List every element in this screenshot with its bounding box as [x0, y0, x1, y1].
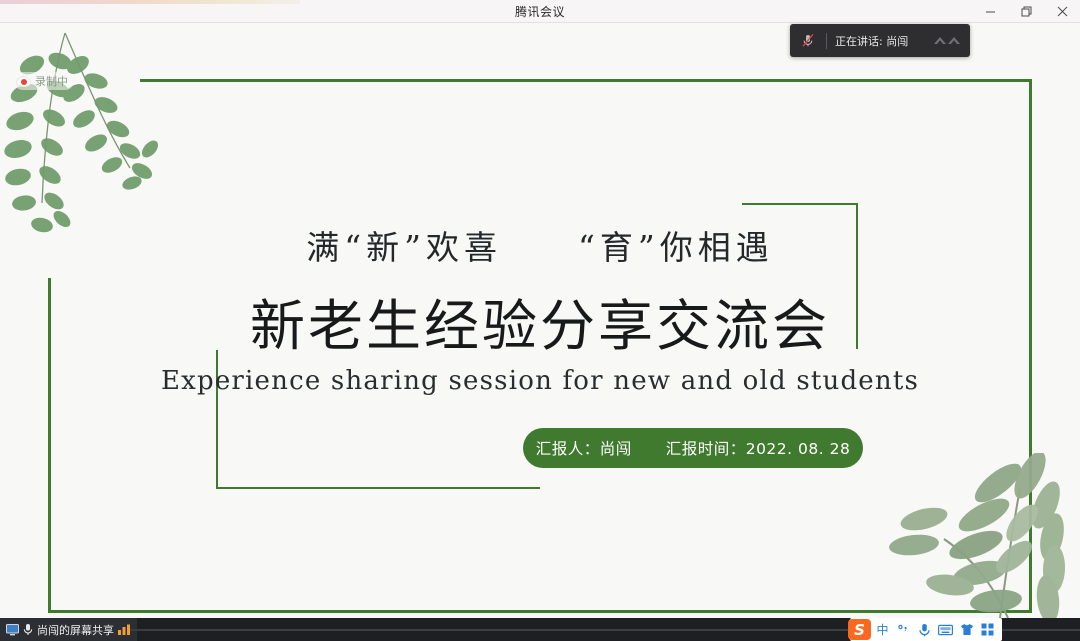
presentation-date: 汇报时间：2022. 08. 28 [666, 437, 851, 459]
system-tray-ime[interactable]: S 中 [850, 618, 1002, 641]
ime-language-icon[interactable]: 中 [873, 620, 892, 639]
monitor-icon [6, 624, 19, 636]
frame-top-outer [140, 79, 1032, 82]
windows-taskbar: 尚闯的屏幕共享 S 中 [0, 618, 1080, 641]
record-dot-icon [16, 76, 31, 87]
window-titlebar[interactable]: 腾讯会议 [0, 0, 1080, 23]
ime-apps-icon[interactable] [978, 620, 997, 639]
recording-badge: 录制中 [14, 72, 74, 90]
taskbar-item-screenshare[interactable]: 尚闯的屏幕共享 [0, 618, 137, 641]
mic-muted-icon[interactable] [798, 31, 818, 51]
double-chevron-icon[interactable] [932, 34, 962, 48]
sogou-logo-icon[interactable]: S [848, 619, 871, 640]
slide-subtitle-cn: 满“新”欢喜 “育”你相遇 [0, 221, 1080, 269]
active-speaker-bar[interactable]: 正在讲话: 尚闯 [790, 24, 970, 57]
recording-label: 录制中 [35, 73, 68, 89]
slide-title-cn: 新老生经验分享交流会 [0, 281, 1080, 361]
minimize-button[interactable] [972, 0, 1008, 23]
titlebar-color-strip [0, 0, 300, 4]
taskbar-item-label: 尚闯的屏幕共享 [37, 622, 114, 638]
speaker-divider [826, 33, 827, 49]
shared-screen-stage: 满“新”欢喜 “育”你相遇 新老生经验分享交流会 Experience shar… [0, 23, 1080, 618]
ime-voice-icon[interactable] [915, 620, 934, 639]
maximize-button[interactable] [1008, 0, 1044, 23]
ime-keyboard-icon[interactable] [936, 620, 955, 639]
mic-icon [23, 623, 33, 636]
leaf-spray-bottomright-decoration [880, 453, 1080, 618]
leaf-branch-topleft-decoration [0, 23, 200, 248]
active-speaker-label: 正在讲话: 尚闯 [835, 33, 928, 49]
frame-top-inner [742, 203, 858, 205]
ime-punctuation-icon[interactable] [894, 620, 913, 639]
window-controls [972, 0, 1080, 23]
frame-bottom-inner [216, 487, 540, 489]
close-button[interactable] [1044, 0, 1080, 23]
presenter-name: 汇报人：尚闯 [536, 437, 632, 459]
slide-presenter-banner: 汇报人：尚闯 汇报时间：2022. 08. 28 [523, 428, 863, 468]
window-title: 腾讯会议 [515, 3, 565, 20]
ime-skin-icon[interactable] [957, 620, 976, 639]
slide-subtitle-en: Experience sharing session for new and o… [0, 366, 1080, 396]
